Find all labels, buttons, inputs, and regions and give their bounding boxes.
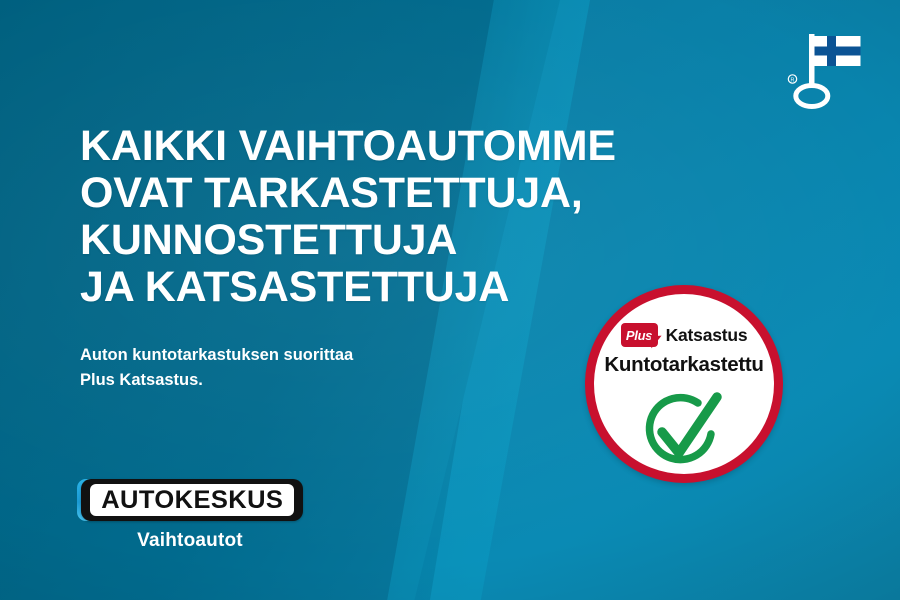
badge-brand-name: Katsastus bbox=[666, 325, 748, 346]
plus-logo-tail-icon bbox=[650, 336, 662, 349]
promo-banner: R KAIKKI VAIHTOAUTOMME OVAT TARKASTETTUJ… bbox=[0, 0, 900, 600]
plus-logo-text: Plus bbox=[626, 329, 652, 342]
plate-wordmark: AUTOKESKUS bbox=[101, 488, 283, 513]
plus-katsastus-badge[interactable]: Plus Katsastus Kuntotarkastettu bbox=[585, 285, 783, 483]
green-check-circle-icon bbox=[635, 390, 733, 472]
license-plate-badge: AUTOKESKUS bbox=[77, 479, 303, 521]
headline: KAIKKI VAIHTOAUTOMME OVAT TARKASTETTUJA,… bbox=[80, 123, 680, 311]
plus-logo-mark: Plus bbox=[621, 323, 661, 347]
subtitle: Auton kuntotarkastuksen suorittaa Plus K… bbox=[80, 343, 510, 393]
svg-text:R: R bbox=[791, 77, 795, 83]
autokeskus-logo[interactable]: AUTOKESKUS Vaihtoautot bbox=[77, 479, 309, 557]
plate-face: AUTOKESKUS bbox=[90, 484, 294, 516]
plate-outline: AUTOKESKUS bbox=[81, 479, 303, 521]
logo-sublabel: Vaihtoautot bbox=[77, 530, 303, 552]
badge-brand-row: Plus Katsastus bbox=[594, 323, 774, 347]
avainlippu-key-flag-icon: R bbox=[780, 22, 870, 112]
badge-title: Kuntotarkastettu bbox=[594, 353, 774, 377]
